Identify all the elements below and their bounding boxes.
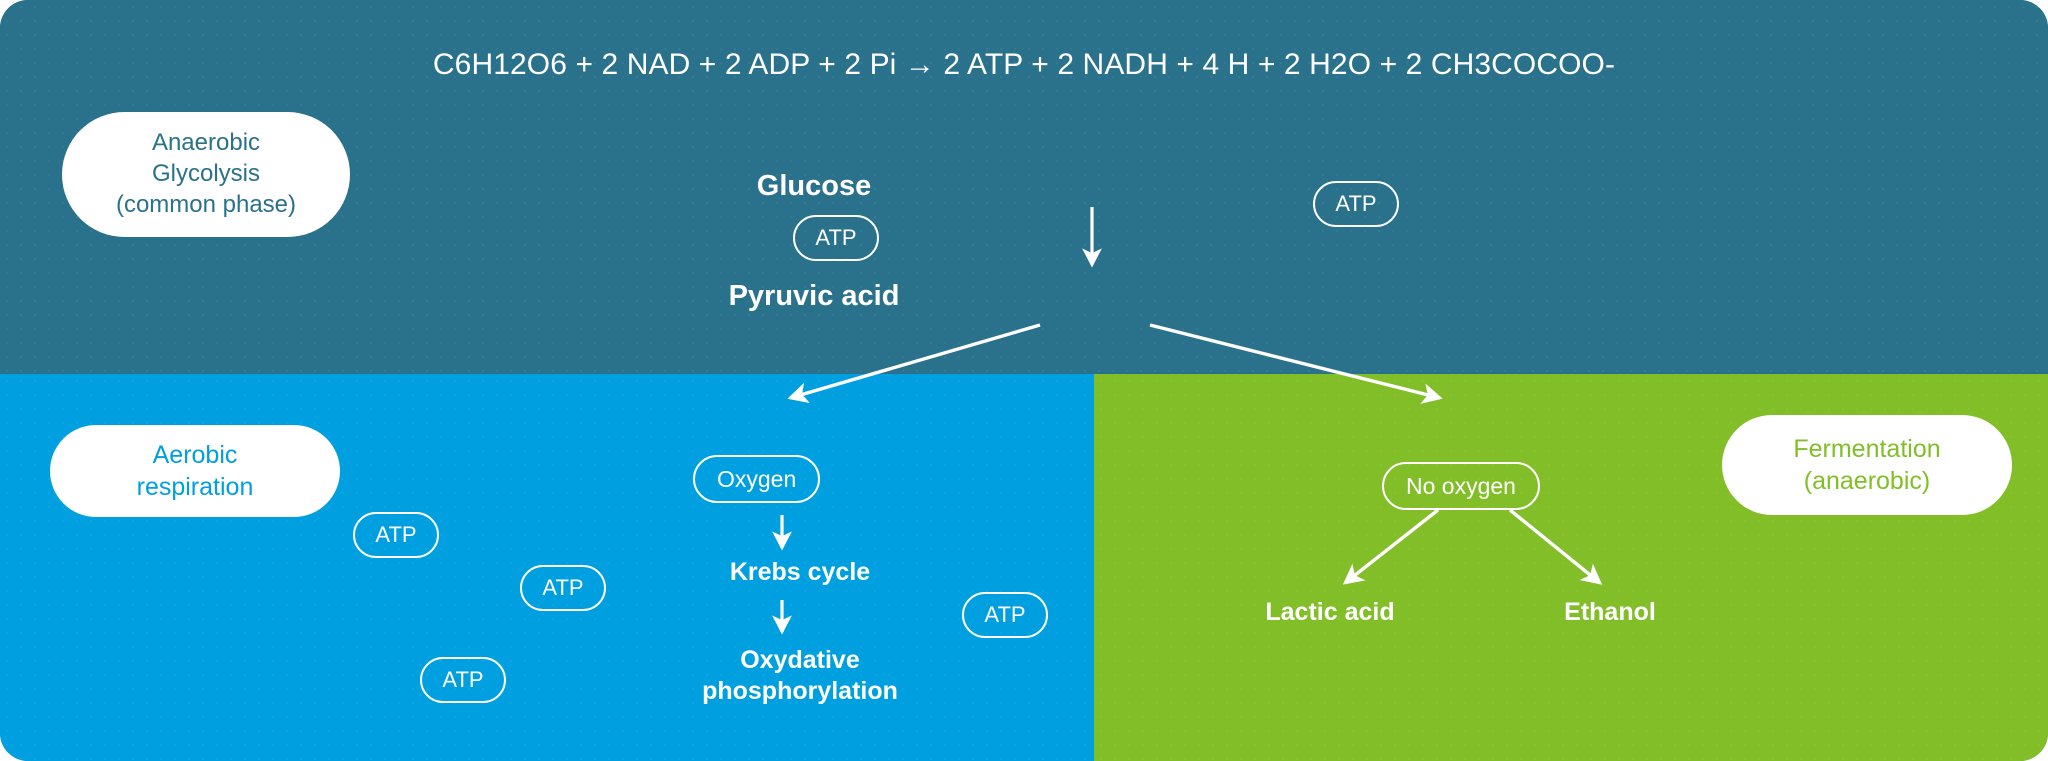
atp-bubble: ATP <box>420 657 506 703</box>
atp-bubble: ATP <box>1313 181 1399 227</box>
diagram-canvas: C6H12O6 + 2 NAD + 2 ADP + 2 Pi → 2 ATP +… <box>0 0 2048 761</box>
atp-bubble: ATP <box>962 592 1048 638</box>
condition-no-oxygen: No oxygen <box>1382 462 1540 510</box>
node-krebs-cycle: Krebs cycle <box>600 558 1000 587</box>
overall-equation: C6H12O6 + 2 NAD + 2 ADP + 2 Pi → 2 ATP +… <box>0 48 2048 83</box>
node-pyruvic-acid: Pyruvic acid <box>0 280 1838 314</box>
atp-bubble: ATP <box>353 512 439 558</box>
node-ethanol: Ethanol <box>1400 598 1820 627</box>
label-aerobic-respiration-text: Aerobic respiration <box>137 439 254 503</box>
node-glucose: Glucose <box>0 170 1838 204</box>
atp-bubble: ATP <box>520 565 606 611</box>
node-oxydative-phosphorylation: Oxydative phosphorylation <box>570 645 1030 706</box>
label-fermentation-text: Fermentation (anaerobic) <box>1793 433 1940 497</box>
atp-bubble: ATP <box>793 215 879 261</box>
label-fermentation: Fermentation (anaerobic) <box>1722 415 2012 515</box>
label-aerobic-respiration: Aerobic respiration <box>50 425 340 517</box>
condition-oxygen: Oxygen <box>693 455 820 503</box>
